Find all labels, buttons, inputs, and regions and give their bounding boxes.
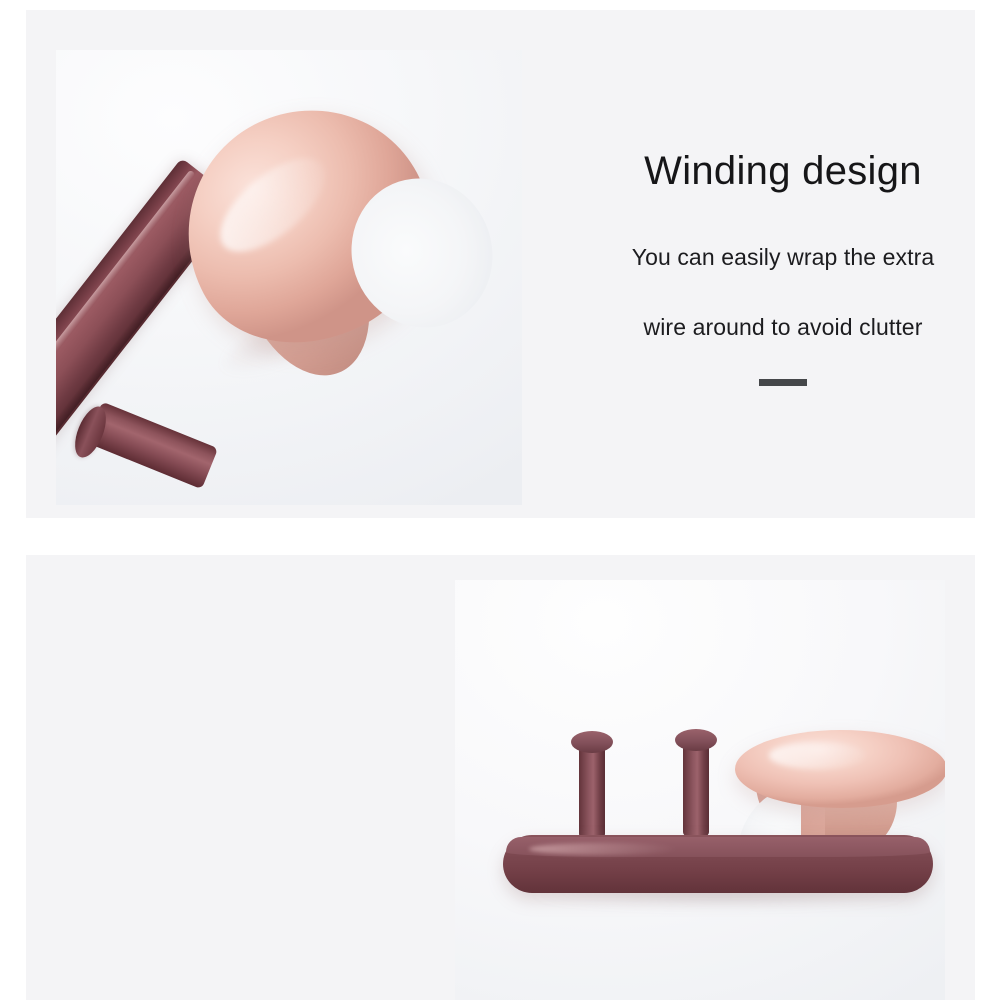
feature-panel-abs-material: ABS material The main ABS material is he… <box>26 555 975 1000</box>
feature-heading: Winding design <box>613 150 953 192</box>
peg-shaft <box>579 743 605 838</box>
rack-base-plate <box>503 835 933 893</box>
product-illustration-hook-rack <box>455 580 945 1000</box>
feature-body-line-1: You can easily wrap the extra <box>613 244 953 271</box>
base-gloss <box>529 843 679 855</box>
product-photo-winding-design <box>56 50 522 505</box>
feature-divider <box>759 379 807 386</box>
peg-head <box>675 729 717 751</box>
rack-peg-1 <box>571 725 613 843</box>
feature-panel-winding-design: Winding design You can easily wrap the e… <box>26 10 975 518</box>
product-photo-abs-material <box>455 580 945 1000</box>
hook-cap-sheen <box>769 742 867 769</box>
rack-peg-2 <box>675 723 717 843</box>
peg-head <box>571 731 613 753</box>
feature-body-line-2: wire around to avoid clutter <box>613 314 953 341</box>
feature-text-winding-design: Winding design You can easily wrap the e… <box>613 150 953 386</box>
hook-cap-sheen <box>205 141 341 268</box>
hook-cap <box>735 730 945 808</box>
peg-shaft <box>683 741 709 836</box>
product-illustration-wall-hook <box>56 50 522 505</box>
